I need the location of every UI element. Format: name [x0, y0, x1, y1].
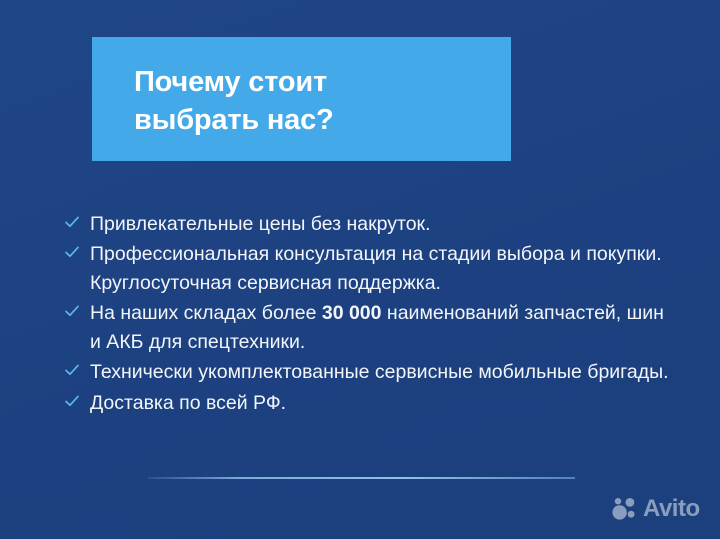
title-card: Почему стоит выбрать нас? [92, 37, 511, 161]
list-item: Профессиональная консультация на стадии … [62, 240, 672, 297]
divider [148, 477, 575, 479]
list-item: Привлекательные цены без накруток. [62, 210, 672, 238]
page-title: Почему стоит выбрать нас? [134, 63, 511, 140]
avito-watermark: Avito [611, 497, 700, 521]
avito-dots-logo-icon [611, 497, 638, 521]
avito-wordmark: Avito [643, 497, 700, 521]
check-icon [64, 244, 80, 260]
benefits-list: Привлекательные цены без накруток. Профе… [62, 210, 672, 419]
check-icon [64, 393, 80, 409]
list-item-text-before: На наших складах более [90, 302, 322, 324]
check-icon [64, 303, 80, 319]
list-item-emphasis: 30 000 [322, 302, 382, 324]
list-item: На наших складах более 30 000 наименован… [62, 299, 672, 356]
check-icon [64, 214, 80, 230]
check-icon [64, 362, 80, 378]
list-item-label: Технически укомплектованные сервисные мо… [90, 361, 669, 383]
list-item-label: На наших складах более 30 000 наименован… [90, 302, 664, 352]
list-item-label: Доставка по всей РФ. [90, 392, 286, 414]
list-item-label: Профессиональная консультация на стадии … [90, 243, 662, 293]
list-item-label: Привлекательные цены без накруток. [90, 213, 431, 235]
list-item: Технически укомплектованные сервисные мо… [62, 358, 672, 386]
slide-canvas: Почему стоит выбрать нас? Привлекательны… [0, 0, 720, 539]
list-item: Доставка по всей РФ. [62, 389, 672, 417]
